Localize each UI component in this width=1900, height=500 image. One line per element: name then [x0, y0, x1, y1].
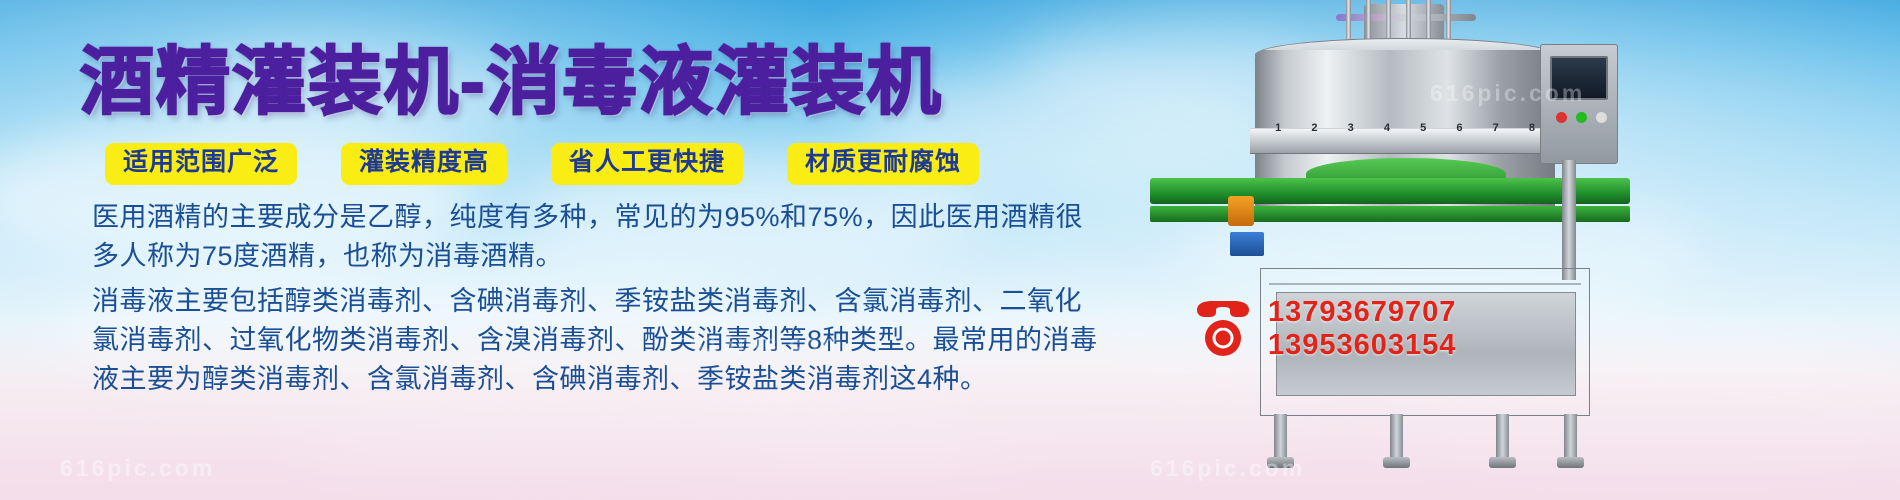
description-paragraph: 消毒液主要包括醇类消毒剂、含碘消毒剂、季铵盐类消毒剂、含氯消毒剂、二氧化氯消毒剂… — [92, 282, 1102, 399]
dial-number: 5 — [1420, 122, 1426, 134]
machine-legs — [1260, 414, 1590, 472]
dial-number: 7 — [1493, 122, 1499, 134]
feature-badge: 省人工更快捷 — [551, 143, 743, 185]
phone-numbers[interactable]: 13793679707 13953603154 — [1268, 296, 1456, 362]
feature-badge: 适用范围广泛 — [105, 143, 297, 185]
dial-number: 6 — [1456, 122, 1462, 134]
feature-badge: 材质更耐腐蚀 — [787, 143, 979, 185]
promo-banner: 酒精灌装机-消毒液灌装机 适用范围广泛 灌装精度高 省人工更快捷 材质更耐腐蚀 … — [0, 0, 1900, 500]
banner-content: 酒精灌装机-消毒液灌装机 适用范围广泛 灌装精度高 省人工更快捷 材质更耐腐蚀 … — [0, 0, 1140, 500]
description-block: 医用酒精的主要成分是乙醇，纯度有多种，常见的为95%和75%，因此医用酒精很多人… — [92, 198, 1102, 399]
description-paragraph: 医用酒精的主要成分是乙醇，纯度有多种，常见的为95%和75%，因此医用酒精很多人… — [92, 198, 1102, 276]
feature-badge-list: 适用范围广泛 灌装精度高 省人工更快捷 材质更耐腐蚀 — [105, 143, 979, 185]
phone-number-primary[interactable]: 13793679707 — [1268, 296, 1456, 329]
machine-conveyor-belt — [1150, 178, 1630, 204]
dial-number: 4 — [1384, 122, 1390, 134]
banner-title: 酒精灌装机-消毒液灌装机 — [80, 45, 943, 119]
machine-button-red — [1556, 112, 1567, 123]
machine-control-post — [1562, 160, 1576, 280]
machine-photo: 1 2 3 4 5 6 7 8 — [1110, 0, 1900, 500]
dial-number: 2 — [1311, 122, 1317, 134]
contact-block[interactable]: 13793679707 13953603154 — [1192, 296, 1456, 362]
dial-number: 8 — [1529, 122, 1535, 134]
machine-button-green — [1576, 112, 1587, 123]
machine-dial-numbers: 1 2 3 4 5 6 7 8 — [1260, 122, 1550, 134]
phone-number-secondary[interactable]: 13953603154 — [1268, 329, 1456, 362]
feature-badge: 灌装精度高 — [341, 143, 507, 185]
machine-orange-part — [1228, 196, 1254, 226]
machine-screen — [1550, 56, 1608, 100]
machine-blue-box — [1230, 232, 1264, 256]
dial-number: 3 — [1348, 122, 1354, 134]
machine-conveyor-belt-lower — [1150, 206, 1630, 222]
machine-button-white — [1596, 112, 1607, 123]
telephone-icon — [1192, 300, 1254, 358]
dial-number: 1 — [1275, 122, 1281, 134]
